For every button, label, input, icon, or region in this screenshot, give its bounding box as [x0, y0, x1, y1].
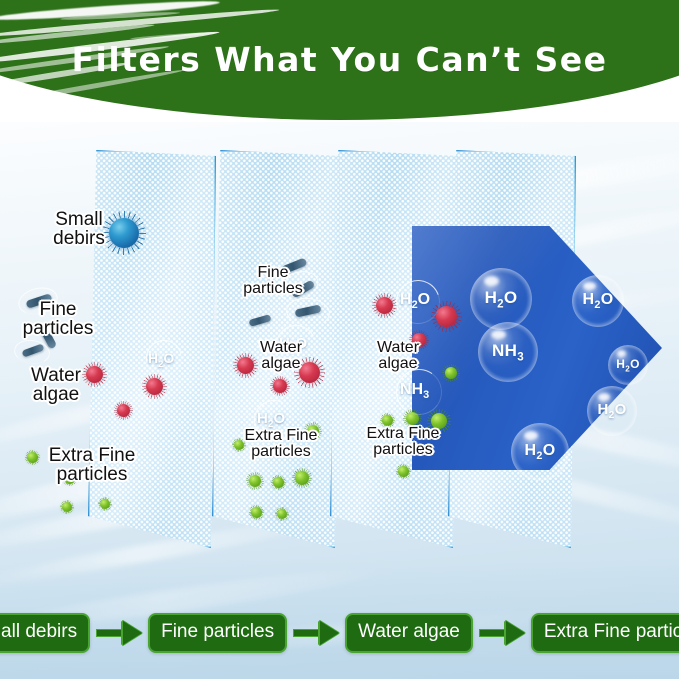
- callout-panel3-extra-fine-particles: Extra Fine particles: [350, 426, 456, 459]
- water-algae-particle: [146, 378, 163, 395]
- extra-fine-particle: [295, 471, 309, 485]
- bubble-label: H2O: [485, 288, 518, 310]
- callout-panel2-extra-fine-particles: Extra Fine particles: [228, 428, 334, 461]
- bubble-label: H2O: [583, 291, 614, 311]
- bubble-h2o-2: H2O: [511, 423, 569, 481]
- bubble-label: H2O: [525, 442, 556, 462]
- water-algae-particle: [436, 306, 457, 327]
- flow-arrow-icon: [287, 620, 345, 646]
- page-title: Filters What You Can’t See: [0, 40, 679, 79]
- flow-arrow-icon: [90, 620, 148, 646]
- bubble-label: NH3: [492, 341, 524, 363]
- bubble-label: H2O: [616, 357, 639, 373]
- extra-fine-particle: [398, 466, 409, 477]
- water-algae-particle: [117, 404, 130, 417]
- h2o-molecule-label: H2O: [400, 291, 430, 311]
- extra-fine-particle: [249, 475, 261, 487]
- infographic-canvas: H2O H2O H2O H2O NH3 H2O NH3 H2O H2O H2: [0, 0, 679, 679]
- header-banner: Filters What You Can’t See: [0, 0, 679, 122]
- callout-extra-fine-particles: Extra Fine particles: [28, 446, 156, 485]
- nh3-molecule-label: NH3: [400, 381, 429, 401]
- bubble-h2o-4: H2O: [608, 345, 648, 385]
- extra-fine-particle: [100, 499, 110, 509]
- extra-fine-particle: [273, 477, 284, 488]
- extra-fine-particle: [277, 509, 287, 519]
- flow-step-small-debris[interactable]: Small debirs: [0, 613, 90, 653]
- callout-fine-particles: Fine particles: [5, 300, 111, 339]
- extra-fine-particle: [62, 502, 72, 512]
- bubble-nh3-1: NH3: [478, 322, 538, 382]
- water-algae-particle: [376, 297, 393, 314]
- callout-panel3-water-algae: Water algae: [360, 340, 436, 373]
- callout-panel2-water-algae: Water algae: [243, 340, 319, 373]
- bubble-h2o-5: H2O: [587, 386, 637, 436]
- extra-fine-particle: [445, 367, 457, 379]
- callout-small-debris: Small debirs: [30, 210, 128, 249]
- extra-fine-particle: [251, 507, 262, 518]
- bubble-h2o-1: H2O: [470, 268, 532, 330]
- flow-step-extra-fine-particles[interactable]: Extra Fine particles: [531, 613, 679, 653]
- bubble-h2o-3: H2O: [572, 275, 624, 327]
- filtration-flow: Small debirs Fine particles Water algae …: [0, 587, 679, 679]
- flow-arrow-icon: [473, 620, 531, 646]
- callout-panel2-fine-particles: Fine particles: [233, 265, 313, 298]
- water-algae-particle: [273, 379, 287, 393]
- flow-step-fine-particles[interactable]: Fine particles: [148, 613, 287, 653]
- callout-water-algae: Water algae: [8, 366, 104, 405]
- flow-step-water-algae[interactable]: Water algae: [345, 613, 473, 653]
- h2o-molecule-label: H2O: [148, 350, 174, 370]
- bubble-label: H2O: [597, 401, 626, 421]
